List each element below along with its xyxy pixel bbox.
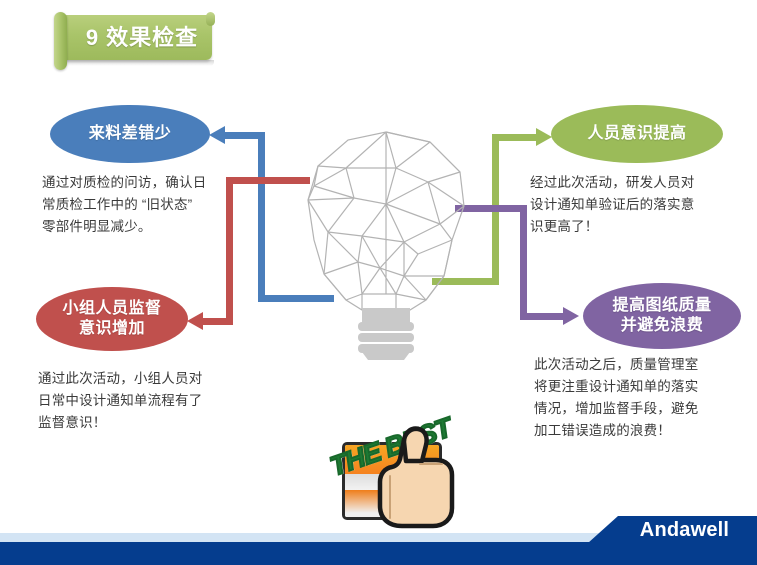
paragraph-line: 识更高了！ — [530, 216, 735, 238]
paragraph-line: 常质检工作中的 “旧状态” — [42, 194, 238, 216]
bubble-drawing-quality[interactable]: 提高图纸质量 并避免浪费 — [583, 283, 741, 349]
paragraph-team-supervision: 通过此次活动，小组人员对 日常中设计通知单流程有了 监督意识！ — [38, 368, 238, 434]
paragraph-line: 通过对质检的问访，确认日 — [42, 172, 238, 194]
thumbs-up-icon — [330, 418, 480, 530]
footer-brand-label: Andawell — [612, 518, 757, 543]
connector-blue-arrowhead-icon — [209, 126, 225, 144]
bubble-drawing-quality-label: 提高图纸质量 并避免浪费 — [612, 296, 711, 336]
slide-canvas: 9 效果检查 — [0, 0, 757, 565]
paragraph-line: 监督意识！ — [38, 412, 238, 434]
connector-blue-segment-vertical — [258, 132, 265, 302]
paragraph-line: 通过此次活动，小组人员对 — [38, 368, 238, 390]
bubble-incoming-material-label: 来料差错少 — [89, 124, 172, 144]
paragraph-line: 设计通知单验证后的落实意 — [530, 194, 735, 216]
connector-purple-segment-vertical — [520, 205, 527, 320]
bubble-team-supervision[interactable]: 小组人员监督 意识增加 — [36, 287, 188, 351]
lightbulb-icon — [300, 128, 472, 360]
paragraph-line: 零部件明显减少。 — [42, 216, 238, 238]
bubble-staff-awareness-label: 人员意识提高 — [587, 124, 686, 144]
title-banner: 9 效果检查 — [46, 12, 222, 66]
connector-purple-segment-horizontal-bottom — [520, 313, 566, 320]
connector-red-arrowhead-icon — [187, 312, 203, 330]
page-title: 9 效果检查 — [72, 15, 212, 60]
connector-green-segment-horizontal-top — [492, 134, 539, 141]
connector-green-arrowhead-icon — [536, 128, 552, 146]
footer-bar — [0, 542, 757, 565]
paragraph-line: 将更注重设计通知单的落实 — [534, 376, 744, 398]
connector-blue-segment-horizontal-top — [224, 132, 265, 139]
footer-accent-line — [0, 533, 640, 542]
paragraph-staff-awareness: 经过此次活动，研发人员对 设计通知单验证后的落实意 识更高了！ — [530, 172, 735, 238]
banner-roll-left-icon — [54, 12, 67, 70]
bubble-incoming-material[interactable]: 来料差错少 — [50, 105, 210, 163]
connector-red-segment-horizontal-bottom — [202, 318, 233, 325]
paragraph-line: 经过此次活动，研发人员对 — [530, 172, 735, 194]
paragraph-line: 情况，增加监督手段，避免 — [534, 398, 744, 420]
paragraph-incoming-material: 通过对质检的问访，确认日 常质检工作中的 “旧状态” 零部件明显减少。 — [42, 172, 238, 238]
the-best-badge: THE BEST — [330, 418, 480, 530]
banner-shadow — [64, 60, 214, 66]
connector-purple-arrowhead-icon — [563, 307, 579, 325]
connector-red-segment-horizontal-top — [226, 177, 310, 184]
paragraph-drawing-quality: 此次活动之后，质量管理室 将更注重设计通知单的落实 情况，增加监督手段，避免 加… — [534, 354, 744, 441]
bubble-team-supervision-label: 小组人员监督 意识增加 — [62, 299, 161, 339]
paragraph-line: 加工错误造成的浪费！ — [534, 420, 744, 442]
paragraph-line: 日常中设计通知单流程有了 — [38, 390, 238, 412]
paragraph-line: 此次活动之后，质量管理室 — [534, 354, 744, 376]
bubble-staff-awareness[interactable]: 人员意识提高 — [551, 105, 723, 163]
